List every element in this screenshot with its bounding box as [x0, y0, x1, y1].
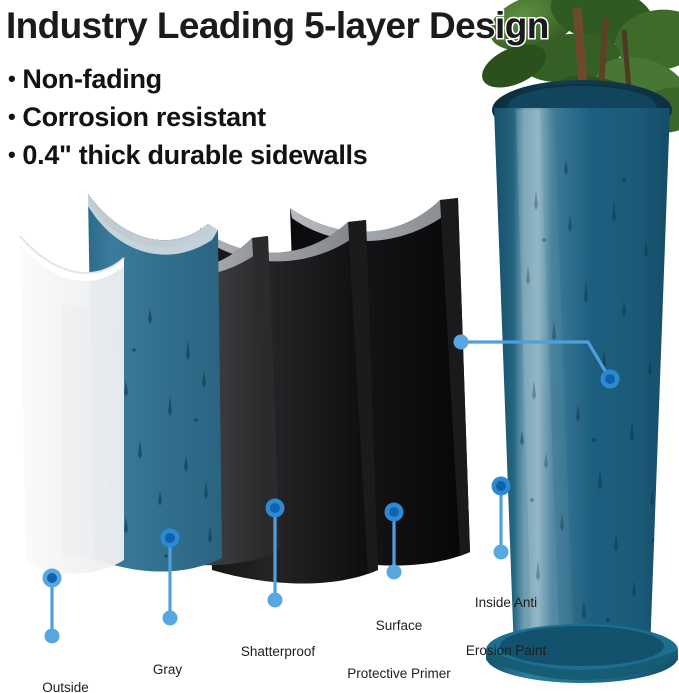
- layer-label-line2: Protective Primer: [340, 666, 458, 682]
- layer-label-line1: Gray: [120, 662, 215, 678]
- page-title-text: Industry Leading 5-layer Design: [6, 5, 549, 46]
- infographic-canvas: Industry Leading 5-layer Design Non-fadi…: [0, 0, 679, 693]
- layer-label-surface-protective-primer: Surface Protective Primer: [340, 586, 458, 693]
- layer-label-inside-anti-erosion-paint: Inside Anti Erosion Paint: [452, 563, 560, 691]
- layer-label-gray-rough-paint: Gray Rough Paint: [120, 630, 215, 693]
- layer-label-line1: Outside: [8, 680, 123, 693]
- layer-label-line1: Inside Anti: [452, 595, 560, 611]
- layer-panel-1: [20, 236, 124, 574]
- page-title: Industry Leading 5-layer Design: [6, 6, 674, 46]
- layer-label-shatterproof-polystyrene-plastic: Shatterproof Polystyrene Plastic: [218, 612, 338, 693]
- bullet-item: Non-fading: [8, 60, 478, 98]
- layer-label-line1: Surface: [340, 618, 458, 634]
- bullet-item: Corrosion resistant: [8, 98, 478, 136]
- feature-bullet-list: Non-fading Corrosion resistant 0.4" thic…: [8, 60, 478, 174]
- bullet-item: 0.4" thick durable sidewalls: [8, 136, 478, 174]
- layer-label-line2: Erosion Paint: [452, 643, 560, 659]
- exploded-layer-panels: [0, 180, 560, 600]
- layer-label-outside-anti-fading-paint: Outside Anti-fading Paint: [8, 648, 123, 693]
- layer-label-line1: Shatterproof: [218, 644, 338, 660]
